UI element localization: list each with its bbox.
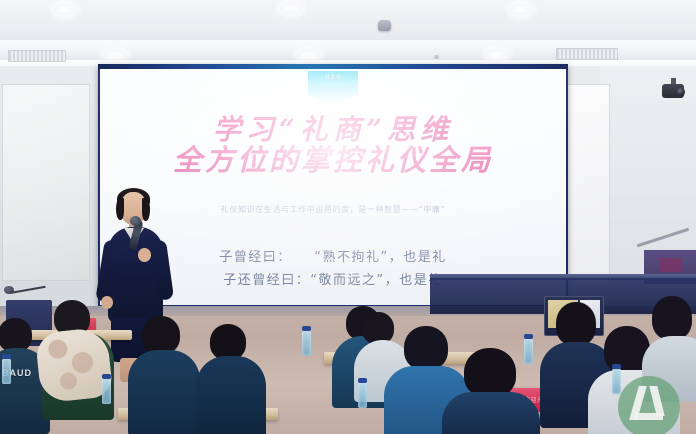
- slide-ribbon-tag: 共享中: [308, 71, 358, 105]
- logo-v-mark: [631, 386, 667, 420]
- bottle-cap: [524, 334, 533, 339]
- water-bottle: [524, 338, 533, 364]
- bottle-cap: [2, 354, 11, 359]
- water-bottle: [2, 358, 11, 384]
- air-vent-icon: [8, 50, 66, 62]
- microphone-icon: [4, 286, 14, 294]
- water-bottle: [612, 368, 621, 394]
- logo-stroke: [649, 386, 664, 416]
- attendee-head: [142, 316, 180, 354]
- attendee-head: [556, 302, 596, 346]
- attendee-head: [210, 324, 246, 360]
- presenter-hair-left: [116, 198, 124, 220]
- ceiling-sensor-icon: [434, 55, 439, 59]
- presenter-hand-right: [138, 248, 151, 262]
- green-circle-logo: [618, 376, 680, 434]
- microphone-capsule: [130, 216, 141, 226]
- attendee-torso: [128, 350, 200, 434]
- downlight-icon: [104, 49, 126, 60]
- downlight-icon: [486, 49, 508, 60]
- slide-ribbon-label: 共享中: [325, 74, 341, 81]
- attendee-torso: [196, 356, 266, 434]
- downlight-icon: [298, 49, 320, 60]
- slide-title-line-1: 学习“礼商”思维: [100, 115, 566, 144]
- side-panel-accent: [660, 258, 682, 272]
- attendee-head: [0, 318, 32, 352]
- attendee-head: [652, 296, 692, 340]
- downlight-icon: [54, 4, 76, 15]
- bottle-cap: [612, 364, 621, 369]
- camera-lens: [677, 88, 685, 96]
- whiteboard-right: [562, 84, 610, 286]
- wall-camera-icon: [660, 78, 686, 100]
- water-bottle: [102, 378, 111, 404]
- presenter-hand-left: [101, 296, 113, 309]
- smoke-detector-icon: [378, 20, 391, 31]
- whiteboard-left: [2, 84, 90, 281]
- attendee-head: [404, 326, 448, 370]
- downlight-icon: [510, 4, 532, 15]
- ceiling: [0, 0, 696, 42]
- attendee-head: [464, 348, 516, 398]
- attendee-head: [362, 312, 394, 344]
- classroom-photo: 共享中 学习“礼商”思维 全方位的掌控礼仪全局 礼仪知识在生活与工作中运用的度，…: [0, 0, 696, 434]
- presenter-hair-right: [142, 198, 150, 221]
- bottle-cap: [102, 374, 111, 379]
- logo-stroke: [635, 413, 663, 420]
- water-bottle: [358, 382, 367, 408]
- bottle-cap: [358, 378, 367, 383]
- attendee-torso: [442, 392, 540, 434]
- bottle-cap: [302, 326, 311, 331]
- water-bottle: [302, 330, 311, 356]
- air-vent-icon: [556, 48, 618, 60]
- downlight-icon: [280, 3, 302, 14]
- slide-title-line-2: 全方位的掌控礼仪全局: [100, 144, 566, 177]
- slide-title-block: 学习“礼商”思维 全方位的掌控礼仪全局: [100, 115, 566, 178]
